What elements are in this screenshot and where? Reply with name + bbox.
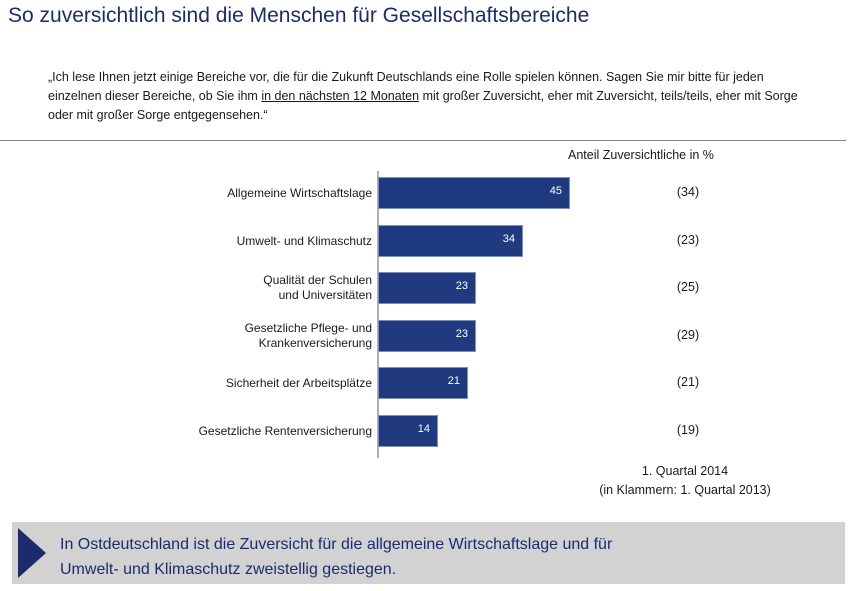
bar-category-label-line: und Universitäten [42, 288, 372, 303]
summary-banner-line-1: In Ostdeutschland ist die Zuversicht für… [60, 532, 830, 557]
bar-category-label-line: Gesetzliche Pflege- und [42, 321, 372, 336]
page-title: So zuversichtlich sind die Menschen für … [8, 4, 589, 28]
prior-year-value: (19) [658, 423, 718, 437]
bar-value-label: 21 [448, 375, 460, 387]
prior-year-value: (23) [658, 233, 718, 247]
bar-category-label-line: Sicherheit der Arbeitsplätze [42, 376, 372, 391]
question-text-underlined: in den nächsten 12 Monaten [261, 89, 419, 103]
bar-track: 34 [378, 225, 523, 257]
bar-row: Allgemeine Wirtschaftslage45(34) [0, 177, 858, 223]
prior-year-value: (29) [658, 328, 718, 342]
question-text: „Ich lese Ihnen jetzt einige Bereiche vo… [48, 68, 818, 125]
bar-row: Umwelt- und Klimaschutz34(23) [0, 225, 858, 271]
prior-year-value: (25) [658, 280, 718, 294]
right-arrow-icon [12, 522, 52, 584]
bar-track: 23 [378, 320, 476, 352]
bar-track: 45 [378, 177, 570, 209]
bar-track: 21 [378, 367, 468, 399]
bar-row: Sicherheit der Arbeitsplätze21(21) [0, 367, 858, 413]
bar-row: Gesetzliche Rentenversicherung14(19) [0, 415, 858, 461]
chart-footnote: 1. Quartal 2014 (in Klammern: 1. Quartal… [520, 462, 850, 500]
bar-category-label-line: Umwelt- und Klimaschutz [42, 234, 372, 249]
footnote-line-2: (in Klammern: 1. Quartal 2013) [520, 481, 850, 500]
bar-category-label-line: Allgemeine Wirtschaftslage [42, 186, 372, 201]
bar-category-label: Gesetzliche Pflege- undKrankenversicheru… [42, 321, 372, 351]
bar-track: 23 [378, 272, 476, 304]
horizontal-divider [0, 140, 846, 141]
bar-category-label: Sicherheit der Arbeitsplätze [42, 376, 372, 391]
summary-banner-text: In Ostdeutschland ist die Zuversicht für… [60, 532, 830, 582]
bar-value-label: 23 [456, 280, 468, 292]
bar-category-label: Allgemeine Wirtschaftslage [42, 186, 372, 201]
bar-row: Qualität der Schulenund Universitäten23(… [0, 272, 858, 318]
bar-category-label-line: Krankenversicherung [42, 336, 372, 351]
bar-value-label: 23 [456, 328, 468, 340]
prior-year-value: (34) [658, 185, 718, 199]
right-column-header: Anteil Zuversichtliche in % [568, 148, 714, 162]
bar-track: 14 [378, 415, 438, 447]
bar-category-label: Qualität der Schulenund Universitäten [42, 273, 372, 303]
bar-category-label-line: Gesetzliche Rentenversicherung [42, 424, 372, 439]
summary-banner: In Ostdeutschland ist die Zuversicht für… [12, 522, 845, 584]
bar-category-label-line: Qualität der Schulen [42, 273, 372, 288]
bar-row: Gesetzliche Pflege- undKrankenversicheru… [0, 320, 858, 366]
bar [378, 225, 523, 257]
bar [378, 177, 570, 209]
summary-banner-line-2: Umwelt- und Klimaschutz zweistellig gest… [60, 557, 830, 582]
prior-year-value: (21) [658, 375, 718, 389]
footnote-line-1: 1. Quartal 2014 [520, 462, 850, 481]
bar-value-label: 14 [418, 423, 430, 435]
bar-category-label: Umwelt- und Klimaschutz [42, 234, 372, 249]
bar-category-label: Gesetzliche Rentenversicherung [42, 424, 372, 439]
bar-value-label: 34 [503, 233, 515, 245]
bar-chart: Anteil Zuversichtliche in % Allgemeine W… [0, 146, 858, 511]
bar-value-label: 45 [550, 185, 562, 197]
